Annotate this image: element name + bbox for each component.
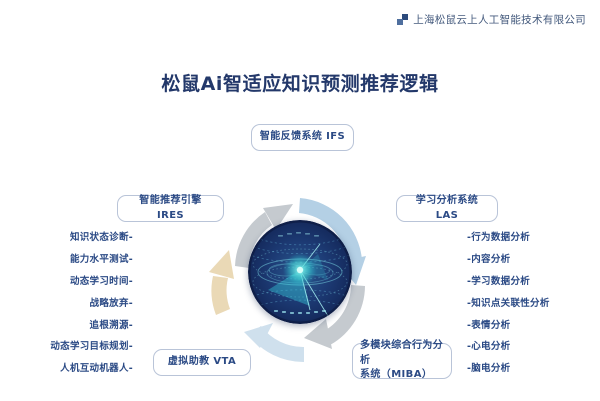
node-miba-label-line1: 多模块综合行为分析 <box>360 339 444 368</box>
node-ifs[interactable]: 智能反馈系统 IFS <box>251 124 354 151</box>
list-item: 知识状态诊断- <box>0 233 133 243</box>
list-item: 动态学习目标规划- <box>0 342 133 352</box>
list-item: 战略放弃- <box>0 299 133 309</box>
right-feature-list: -行为数据分析 -内容分析 -学习数据分析 -知识点关联性分析 -表情分析 -心… <box>467 233 600 386</box>
arrow-bottom-left-icon <box>244 323 304 362</box>
list-item: -学习数据分析 <box>467 277 600 287</box>
node-ires[interactable]: 智能推荐引擎 IRES <box>117 195 224 222</box>
node-las[interactable]: 学习分析系统 LAS <box>396 195 498 222</box>
node-las-label: 学习分析系统 LAS <box>404 194 490 223</box>
list-item: -心电分析 <box>467 342 600 352</box>
two-squares-logo-icon <box>397 14 408 25</box>
list-item: -表情分析 <box>467 321 600 331</box>
arrow-left-icon <box>209 250 234 315</box>
list-item: -内容分析 <box>467 255 600 265</box>
list-item: 追根溯源- <box>0 321 133 331</box>
slide-canvas: 上海松鼠云上人工智能技术有限公司 松鼠Ai智适应知识预测推荐逻辑 <box>0 0 600 401</box>
tech-sphere-radar-icon <box>248 220 352 324</box>
left-feature-list: 知识状态诊断- 能力水平测试- 动态学习时间- 战略放弃- 追根溯源- 动态学习… <box>0 233 133 386</box>
header: 上海松鼠云上人工智能技术有限公司 <box>397 12 586 27</box>
list-item: 人机互动机器人- <box>0 364 133 374</box>
list-item: -行为数据分析 <box>467 233 600 243</box>
node-ifs-label: 智能反馈系统 IFS <box>260 130 345 145</box>
list-item: -脑电分析 <box>467 364 600 374</box>
list-item: -知识点关联性分析 <box>467 299 600 309</box>
node-miba-label-line2: 系统（MIBA） <box>360 368 444 383</box>
company-name: 上海松鼠云上人工智能技术有限公司 <box>413 12 586 27</box>
node-vta-label: 虚拟助教 VTA <box>168 355 236 370</box>
page-title: 松鼠Ai智适应知识预测推荐逻辑 <box>0 69 600 96</box>
list-item: 能力水平测试- <box>0 255 133 265</box>
node-ires-label: 智能推荐引擎 IRES <box>125 194 216 223</box>
node-vta[interactable]: 虚拟助教 VTA <box>153 349 251 376</box>
node-miba[interactable]: 多模块综合行为分析 系统（MIBA） <box>352 343 452 379</box>
list-item: 动态学习时间- <box>0 277 133 287</box>
